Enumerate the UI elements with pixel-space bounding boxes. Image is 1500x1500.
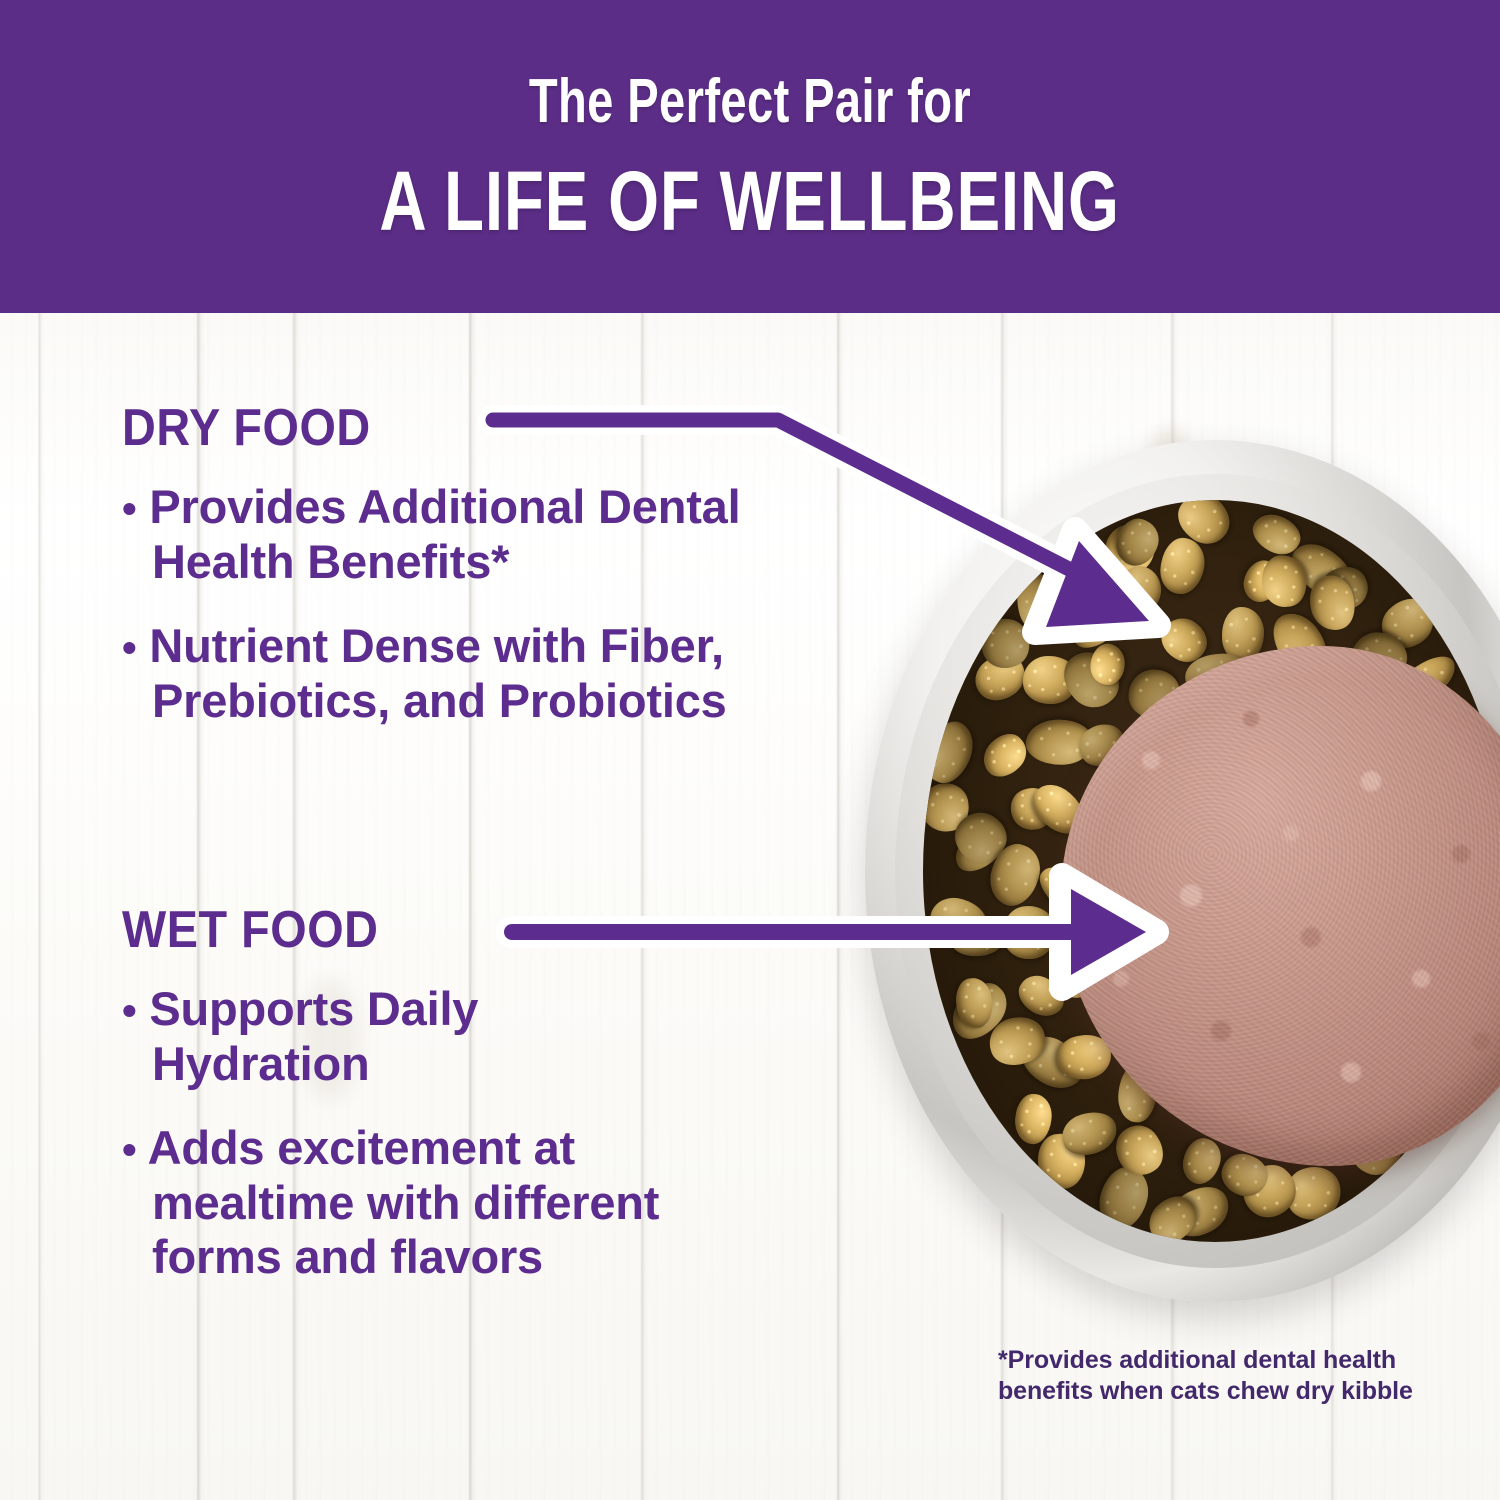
bullet-text: Provides Additional Dental Health Benefi… xyxy=(149,480,740,588)
kibble-piece xyxy=(976,726,1035,784)
list-item: • Supports Daily Hydration xyxy=(122,982,682,1091)
banner-headline-line2: A LIFE OF WELLBEING xyxy=(380,159,1120,243)
wet-food-pate-mound xyxy=(1061,646,1500,1166)
footnote-line2: benefits when cats chew dry kibble xyxy=(998,1376,1418,1407)
bullet-marker: • xyxy=(122,1126,137,1173)
footnote: *Provides additional dental health benef… xyxy=(998,1345,1418,1406)
header-banner: The Perfect Pair for A LIFE OF WELLBEING xyxy=(0,0,1500,313)
infographic-canvas: The Perfect Pair for A LIFE OF WELLBEING… xyxy=(0,0,1500,1500)
list-item: • Nutrient Dense with Fiber, Prebiotics,… xyxy=(122,619,802,728)
kibble-piece xyxy=(1156,535,1208,598)
banner-headline-line1: The Perfect Pair for xyxy=(529,71,971,133)
bullet-text: Supports Daily Hydration xyxy=(149,982,478,1090)
list-item: • Provides Additional Dental Health Bene… xyxy=(122,480,802,589)
bullet-text: Adds excitement at mealtime with differe… xyxy=(148,1121,660,1283)
bullet-text: Nutrient Dense with Fiber, Prebiotics, a… xyxy=(149,619,726,727)
kibble-piece xyxy=(1001,904,1057,960)
dry-food-bullet-list: • Provides Additional Dental Health Bene… xyxy=(122,480,802,758)
cat-food-bowl-photo xyxy=(865,440,1500,1310)
list-item: • Adds excitement at mealtime with diffe… xyxy=(122,1121,682,1285)
bullet-marker: • xyxy=(122,485,137,532)
wet-food-bullet-list: • Supports Daily Hydration • Adds excite… xyxy=(122,982,682,1315)
bullet-marker: • xyxy=(122,987,137,1034)
footnote-line1: *Provides additional dental health xyxy=(998,1345,1418,1376)
section-heading-wet-food: WET FOOD xyxy=(122,900,379,960)
bullet-marker: • xyxy=(122,624,137,671)
section-heading-dry-food: DRY FOOD xyxy=(122,398,371,458)
